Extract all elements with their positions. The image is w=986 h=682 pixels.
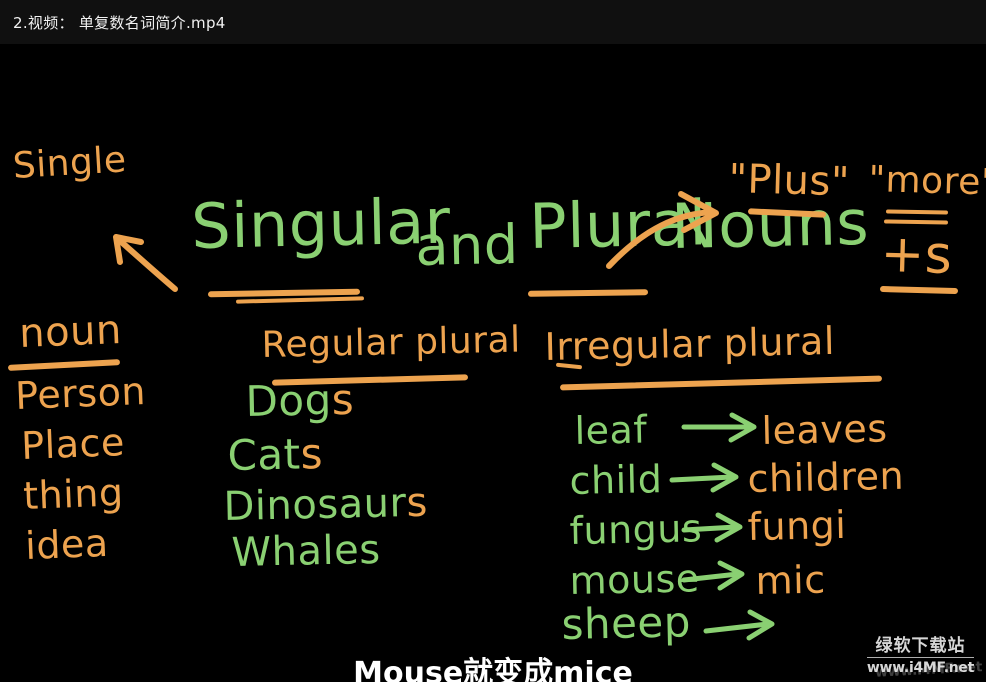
watermark-url: www.i4MF.net: [867, 660, 974, 676]
arrow-single-icon: [116, 237, 175, 289]
underline-singular-2: [236, 296, 364, 303]
column-3-pair-3-plural: mic: [755, 561, 826, 600]
column-3-pair-2-plural: fungi: [747, 506, 847, 546]
window-title-bar: 2.视频： 单复数名词简介.mp4: [0, 0, 986, 44]
arrow-sheep-icon: [706, 612, 772, 638]
column-2-item-1-suffix: s: [300, 429, 323, 478]
underline-plus-s: [880, 286, 958, 294]
column-2-item-3-suffix: s: [359, 527, 381, 573]
column-3-pair-0-singular: leaf: [574, 410, 647, 450]
heading-singular: Singular: [191, 191, 451, 258]
column-1-item-1: Place: [21, 423, 126, 465]
column-2-item-1-stem: Cat: [227, 429, 301, 480]
column-3-pair-0-plural: leaves: [761, 409, 888, 450]
column-2-item-0: Dogs: [245, 379, 354, 423]
annotation-plus: "Plus": [728, 159, 850, 202]
underline-plural: [528, 289, 648, 297]
subtitle-primary: Mouse就变成mice: [0, 648, 986, 682]
watermark: 绿软下载站 www.i4MF.net: [867, 631, 974, 676]
column-2-item-2-suffix: s: [406, 480, 428, 526]
arrow-leaf-icon: [684, 415, 754, 440]
video-stage[interactable]: Single Singular and Plural Nouns "Plus" …: [0, 44, 986, 682]
column-1-item-2: thing: [23, 473, 125, 515]
arrow-overlay: [0, 44, 986, 682]
column-1-item-3: idea: [25, 524, 110, 565]
column-2-item-2: Dinosaurs: [223, 483, 428, 527]
annotation-more: "more": [868, 162, 986, 202]
watermark-site-name: 绿软下载站: [867, 631, 974, 658]
column-2-item-3-stem: Whale: [231, 527, 360, 576]
column-2-item-1: Cats: [227, 433, 323, 477]
column-2-item-2-stem: Dinosaur: [223, 480, 407, 530]
video-player-window: 2.视频： 单复数名词简介.mp4 Single Singular and Pl…: [0, 0, 986, 682]
column-3-pair-2-singular: fungus: [569, 509, 702, 550]
column-2-header: Regular plural: [261, 323, 521, 364]
annotation-single: Single: [12, 142, 128, 185]
column-3-pair-1-singular: child: [569, 460, 662, 500]
underline-noun: [8, 359, 120, 371]
column-3-header: Irregular plural: [544, 322, 835, 366]
column-3-pair-3-singular: mouse: [569, 559, 700, 600]
annotation-plus-s: +s: [880, 228, 953, 282]
column-3-pair-1-plural: children: [747, 457, 904, 498]
column-2-item-0-stem: Dog: [245, 375, 332, 426]
column-1-item-0: Person: [15, 372, 147, 415]
underline-more-1: [886, 209, 948, 214]
column-3-pair-4-singular: sheep: [561, 601, 691, 646]
column-1-header: noun: [18, 310, 122, 354]
window-title: 2.视频： 单复数名词简介.mp4: [13, 12, 226, 33]
column-2-item-3: Whales: [231, 530, 381, 573]
arrow-child-icon: [672, 465, 736, 490]
underline-irregular-plural: [560, 376, 882, 391]
heading-and: and: [415, 218, 519, 274]
column-2-item-0-suffix: s: [331, 375, 354, 424]
